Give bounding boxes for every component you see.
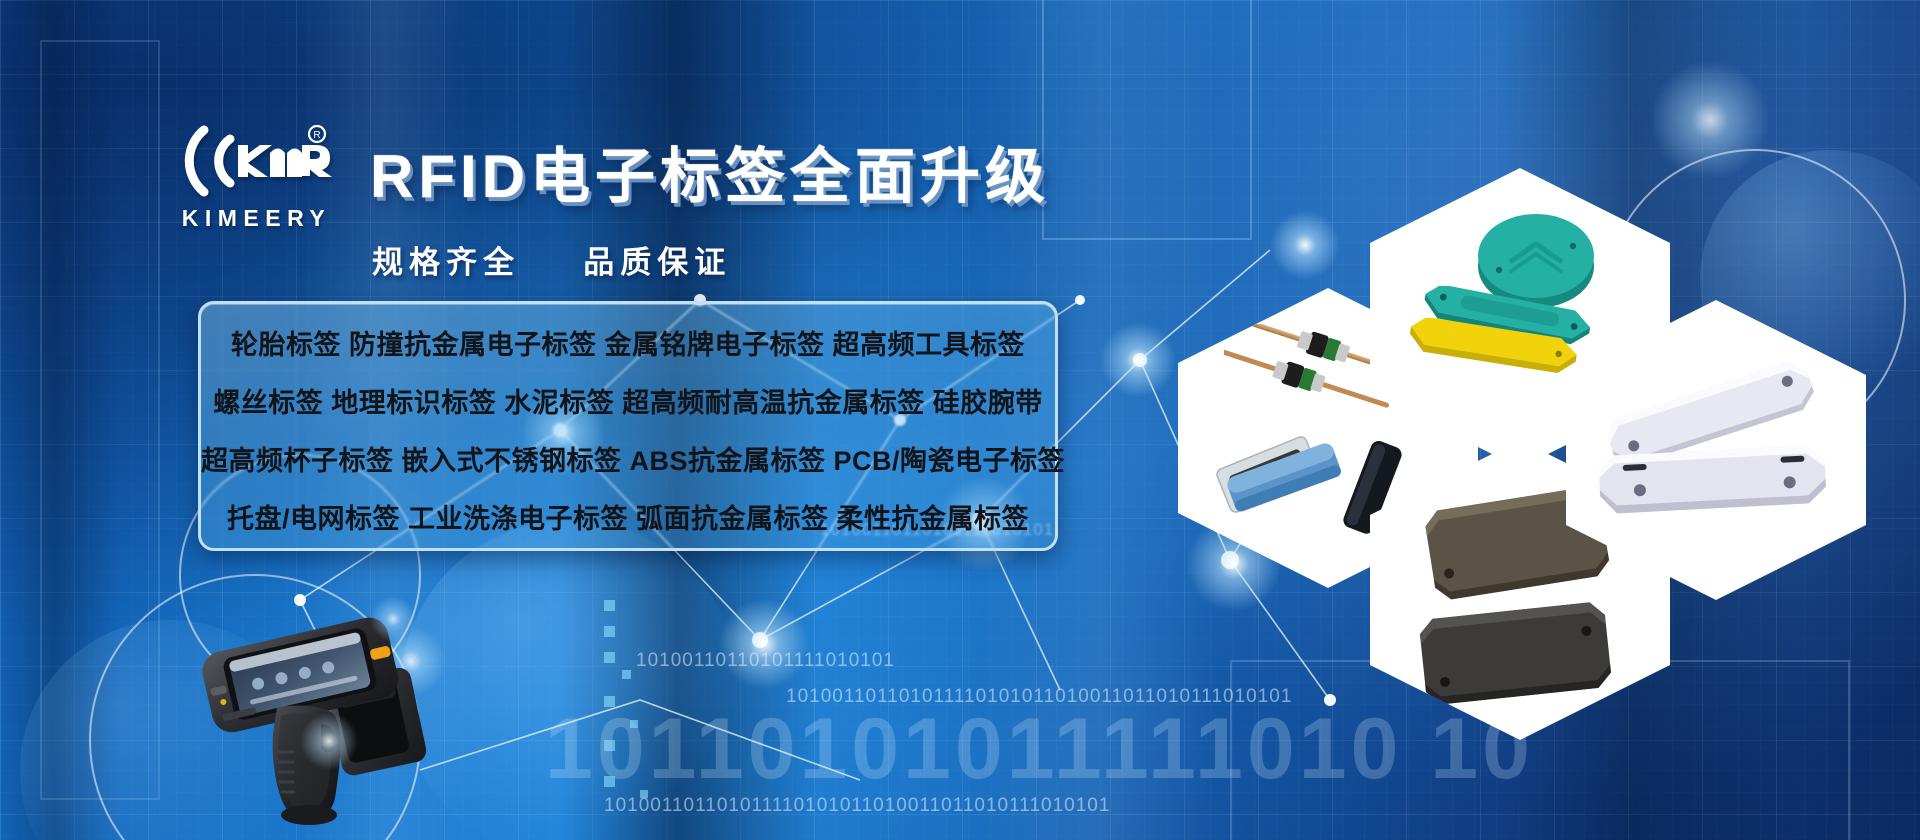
brand-logo: R KIMEERY — [168, 122, 340, 232]
binary-line-6: 1010011011010111101010110100110110101110… — [604, 795, 1110, 817]
page-title: RFID电子标签全面升级 — [370, 128, 1050, 215]
dark-grey-anti-metal-tag — [1418, 601, 1612, 706]
product-row-3: 超高频杯子标签 嵌入式不锈钢标签 ABS抗金属标签 PCB/陶瓷电子标签 — [201, 448, 1055, 475]
rfid-product-banner: 10100110110101111010101 1010011011010111… — [0, 0, 1920, 840]
page-subtitle: 规格齐全 品质保证 — [372, 237, 731, 282]
subtitle-left: 规格齐全 — [372, 245, 520, 280]
white-abs-long-tags — [1590, 360, 1850, 540]
svg-text:R: R — [313, 130, 320, 141]
kimeery-signal-logo-icon: R — [174, 122, 334, 198]
product-row-4: 托盘/电网标签 工业洗涤电子标签 弧面抗金属标签 柔性抗金属标签 — [201, 506, 1055, 533]
tech-dot-column — [600, 600, 670, 830]
product-category-box: 轮胎标签 防撞抗金属电子标签 金属铭牌电子标签 超高频工具标签 螺丝标签 地理标… — [198, 301, 1058, 551]
binary-line-2: 10100110110101111010101 — [636, 650, 895, 672]
handheld-rfid-reader — [185, 612, 435, 832]
binary-line-big: 10110101011111010 10 — [545, 700, 1534, 799]
subtitle-right: 品质保证 — [583, 245, 731, 280]
yellow-flexible-anti-metal-tag — [1400, 318, 1590, 388]
brand-wordmark: KIMEERY — [168, 205, 340, 232]
product-row-1: 轮胎标签 防撞抗金属电子标签 金属铭牌电子标签 超高频工具标签 — [201, 332, 1055, 359]
product-row-2: 螺丝标签 地理标识标签 水泥标签 超高频耐高温抗金属标签 硅胶腕带 — [201, 390, 1055, 417]
white-abs-long-tag-lower — [1598, 445, 1827, 515]
